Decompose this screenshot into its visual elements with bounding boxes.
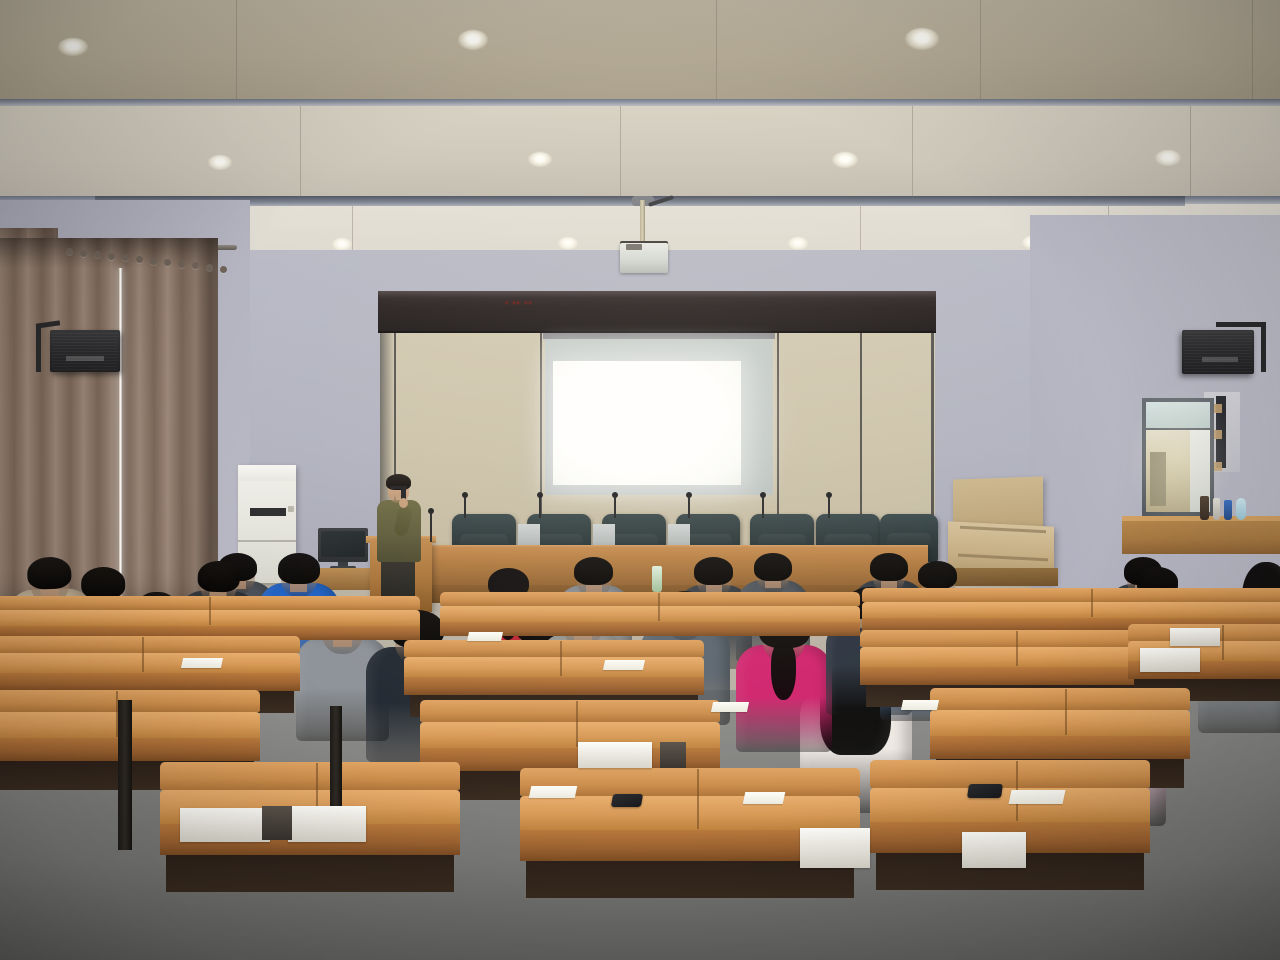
person-hair [694,557,733,585]
bench-row-mid-right-desktop [860,647,1160,667]
ceiling-downlight [788,237,808,250]
water-bottle [652,566,662,592]
bench-row-near-right-front [930,736,1190,759]
tablet-device [967,784,1003,798]
paper-sheet [711,702,749,712]
wall-speaker-left-label [66,356,104,361]
smartphone [611,794,643,807]
ceiling-upper-band [0,0,1280,104]
speaker-bracket-right-post [1261,322,1266,372]
paper-stack [180,808,270,842]
paper-stack [1140,648,1200,672]
curtain-ring [66,248,73,255]
bench-row-front-left-book-shelf [166,855,454,892]
window-curtains [0,238,218,600]
speaker-bracket-right-arm [1216,322,1266,327]
gooseneck-microphone-head [760,492,766,498]
wall-speaker-right-grille [1184,332,1252,372]
bench-row-mid-center-front [404,677,704,695]
air-conditioner-button[interactable] [288,506,294,512]
paper-sheet [1009,790,1066,804]
person-hair [278,553,320,583]
gooseneck-microphone-head [826,492,832,498]
projection-screen-image [553,361,741,485]
paper-sheet [743,792,786,804]
wall-speaker-right-label [1202,357,1238,362]
ceiling-downlight [528,152,552,167]
gooseneck-microphone [539,496,541,518]
curtain-ring [80,250,87,257]
ceiling-downlight [458,30,488,50]
bench-row-mid-left-seam [142,637,144,672]
side-counter [1122,516,1280,554]
bench-row-near-center-backrest [420,700,720,722]
podium-microphone [430,512,432,542]
ceiling-downlight [208,155,232,170]
bench-row-mid-left-backrest [0,636,300,653]
curtain-ring [150,258,157,265]
stacked-books [660,742,686,768]
led-marquee-text: • •• •• [505,300,567,314]
bench-row-near-right-desktop [930,710,1190,736]
paper-stack [962,832,1026,868]
ceiling-panel-seam [1252,0,1253,100]
curtain-ring [206,264,213,271]
bench-row-mid-right-front [860,667,1160,685]
bench-row-mid-center-backrest [404,640,704,657]
curtain-ring [108,253,115,260]
wall-speaker-left-grille [52,332,118,370]
bench-row-far-center-front [440,622,860,636]
ceiling-downlight [905,28,939,50]
bench-row-front-left-backrest [160,762,460,790]
paper-stack [288,806,366,842]
bench-row-near-center-seam [576,701,578,747]
ceiling-panel-seam [300,106,301,198]
bench-row-mid-center-seam [560,641,562,676]
stacked-books [262,806,292,840]
projector-lens-housing [626,244,642,250]
gooseneck-microphone [464,496,466,518]
bench-row-mid-center-desktop [404,657,704,677]
bench-row-near-right-seam [1065,689,1067,735]
gooseneck-microphone [688,496,690,518]
gooseneck-microphone-head [686,492,692,498]
ceiling-panel-seam [1190,106,1191,198]
water-bottle [1236,498,1246,520]
paper-sheet [181,658,223,668]
led-marquee-highlight [378,291,936,298]
ceiling-downlight [1155,150,1181,166]
air-conditioner-seam [238,540,296,542]
ceiling-middle-band [0,104,1280,200]
presenter-hand [399,498,408,508]
bench-row-far-left-seam [209,597,211,625]
bench-row-mid-right-backrest [860,630,1160,647]
bench-row-mid-far-right-seam [1222,625,1224,660]
bench-row-near-right-backrest [930,688,1190,710]
bench-row-mid-left-desktop [0,653,300,673]
curtain-ring [178,261,185,268]
bench-row-front-right-backrest [870,760,1150,788]
air-conditioner-top [238,465,296,481]
ceiling-downlight [832,152,858,168]
ceiling-panel-seam [980,0,981,100]
water-bottle [1224,500,1232,520]
bench-row-front-center-seam [697,769,699,829]
paper-sheet [901,700,939,710]
podium-microphone-head [428,508,434,514]
bench-row-mid-left-front [0,673,300,691]
ceiling-downlight [58,38,88,56]
bench-row-far-right-backrest [862,588,1280,602]
cast-iron-bench-leg [118,700,132,850]
person-hair [197,561,239,592]
ceiling-panel-seam [912,106,913,198]
paper-stack [1170,628,1220,646]
ceiling-downlight [558,237,578,250]
gooseneck-microphone [762,496,764,518]
gooseneck-microphone-head [462,492,468,498]
bench-row-far-right-seam [1091,589,1093,617]
paper-sheet [603,660,645,670]
paper-stack [800,828,870,868]
gooseneck-microphone-head [537,492,543,498]
person-hair [918,561,957,589]
curtain-ring [136,256,143,263]
bench-row-far-center-desktop [440,606,860,622]
air-conditioner-vent [250,508,286,516]
ceiling-beam-upper [0,99,1280,106]
bench-row-front-center-desktop [520,796,860,830]
person-ponytail [771,641,796,700]
bench-row-far-center-seam [658,593,660,621]
thermos-flask [1200,496,1209,520]
gooseneck-microphone-head [612,492,618,498]
water-bottle [1213,498,1220,520]
ceiling-panel-seam [620,106,621,198]
curtain-daylight-gap [118,268,123,598]
person-hair [574,557,613,585]
paper-stack [578,742,652,768]
person-hair [754,553,792,580]
gooseneck-microphone [828,496,830,518]
curtain-ring [220,266,227,273]
ceiling-panel-seam [716,0,717,100]
bench-row-far-center-backrest [440,592,860,606]
paper-sheet [467,632,503,641]
ceiling-panel-seam [236,0,237,100]
paper-sheet [529,786,578,798]
gooseneck-microphone [614,496,616,518]
lecture-hall-photo: • •• •• [0,0,1280,960]
speaker-bracket-left-post [36,324,41,372]
bench-row-mid-right-seam [1016,631,1018,666]
bench-row-far-right-desktop [862,602,1280,618]
